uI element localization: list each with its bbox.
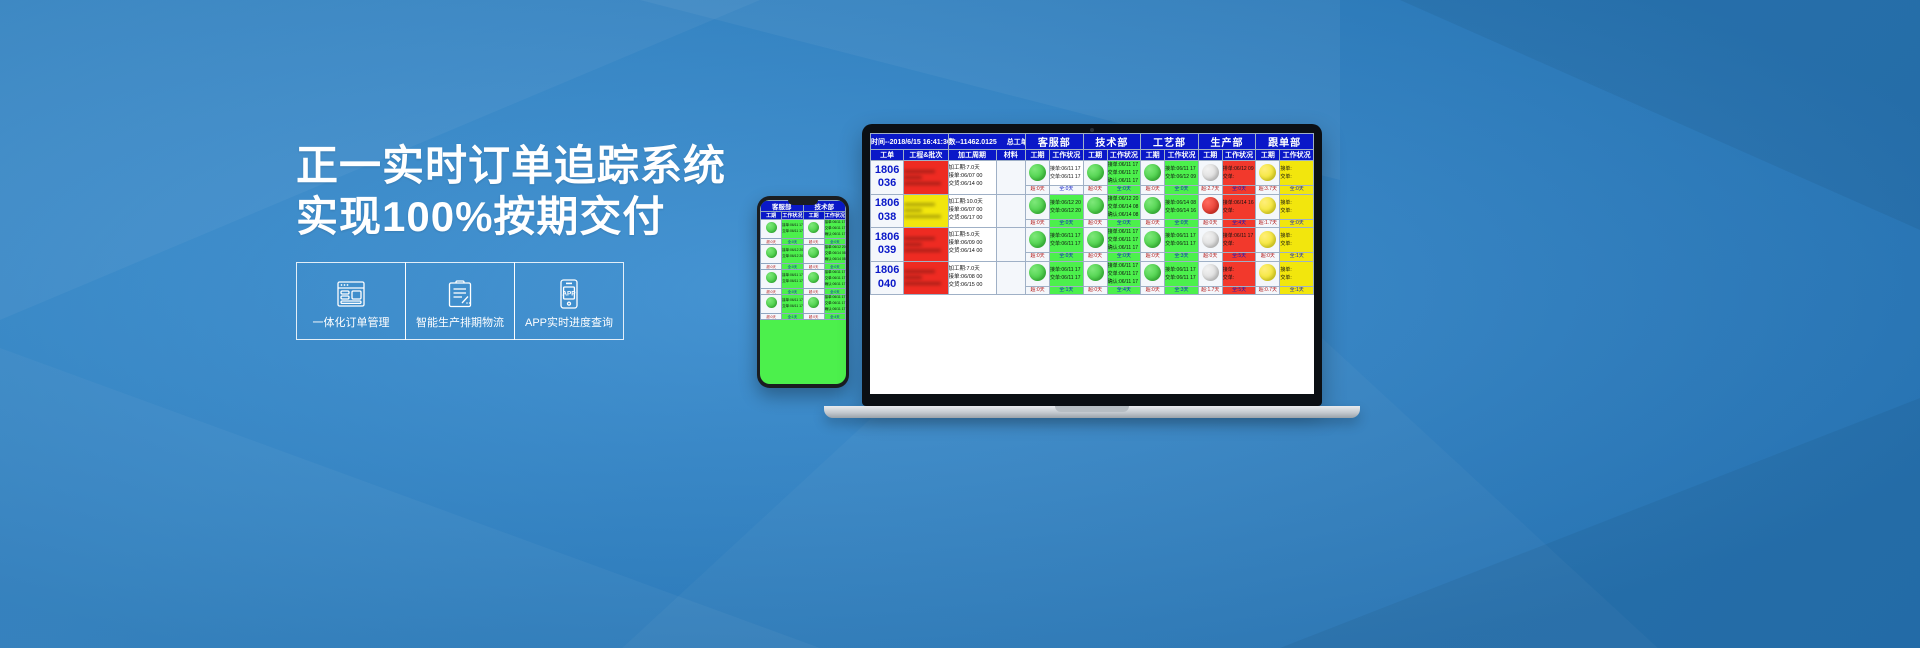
phone-table-row-sub: 超:0天全:1天超:0天全:4天 [761,314,846,320]
full-days-cell: 全:4天 [1222,219,1256,228]
phone-work-status-cell[interactable]: 接单:06/12 20交单:06/12 20 [782,245,803,264]
dept-header-customer-service: 客服部 [1026,134,1084,150]
phone-sub-header: 工期 [803,212,824,220]
work-status-line: 交单: [1223,207,1256,215]
clipboard-schedule-icon [447,275,473,313]
order-number-cell: 1806038 [871,194,904,228]
status-indicator-green [1144,197,1161,214]
phone-screen: 客服部 技术部 工期 工作状况 工期 工作状况 接单:06/11 17交单:06… [760,200,846,384]
cycle-line: 交货:06/14 00 [949,248,996,256]
cycle-line: 交货:06/14 00 [949,181,996,189]
table-row[interactable]: 1806039加工期:5.0天接单:06/09 00交货:06/14 00接单:… [871,228,1314,253]
col-header-status: 工作状况 [1165,150,1199,161]
cycle-line: 接单:06/07 00 [949,207,996,215]
phone-sub-header: 工作状况 [824,212,845,220]
phone-work-status-cell[interactable]: 接单:06/11 17交单:06/11 17 [782,270,803,289]
duration-status-cell[interactable] [1141,261,1165,286]
status-indicator-gray [1202,231,1219,248]
status-count: 数--11462.0125总工单数--38 [948,134,1026,150]
phone-work-line: 确认:06/11 17 [825,232,845,238]
work-status-line: 接单: [1280,199,1313,207]
phone-work-status-cell[interactable]: 接单:06/11 17交单:06/11 17确认:06/11 17 [824,270,845,289]
phone-full-days-cell: 全:4天 [824,314,845,320]
work-status-cell[interactable]: 接单:06/14 08交单:06/14 16 [1165,194,1199,219]
phone-duration-cell[interactable] [761,220,782,239]
work-status-cell[interactable]: 接单:交单: [1280,194,1314,219]
feature-list: 一体化订单管理 智能生产排期物流 [296,262,623,340]
webcam-icon [1090,128,1094,132]
status-indicator-green [1029,231,1046,248]
phone-work-line: 交单:06/11 17 [782,229,802,235]
status-indicator-gray [1202,264,1219,281]
full-days-cell: 全:0天 [1165,186,1199,195]
work-status-line: 确认:06/11 17 [1108,177,1141,185]
overdue-days-cell: 超:0天 [1141,219,1165,228]
full-days-cell: 全:0天 [1280,186,1314,195]
col-header-status: 工作状况 [1107,150,1141,161]
phone-work-line: 交单:06/11 17 [782,304,802,310]
work-status-cell[interactable]: 接单:06/11 17交单:06/11 17 [1050,261,1084,286]
overdue-days-cell: 超:0天 [1256,253,1280,262]
work-status-line: 交单: [1280,173,1313,181]
phone-work-status-cell[interactable]: 接单:06/11 17交单:06/11 17 [782,295,803,314]
overdue-days-cell: 超:1.7天 [1256,219,1280,228]
material-cell [996,228,1026,262]
laptop-screen: 时间--2018/6/15 16:41:36 数--11462.0125总工单数… [870,133,1314,394]
full-days-cell: 全:0天 [1107,219,1141,228]
order-number-top: 1806 [871,164,903,178]
status-bar-row: 时间--2018/6/15 16:41:36 数--11462.0125总工单数… [871,134,1314,150]
duration-status-cell[interactable] [1256,261,1280,286]
phone-duration-cell[interactable] [803,270,824,289]
overdue-days-cell: 超:0天 [1026,286,1050,295]
status-indicator-yellow [1259,264,1276,281]
overdue-days-cell: 超:0天 [1198,253,1222,262]
phone-duration-cell[interactable] [803,220,824,239]
project-batch-cell [904,261,948,295]
work-status-cell[interactable]: 接单:06/11 17交单:06/11 17 [1050,228,1084,253]
status-indicator-yellow [1259,231,1276,248]
order-number-top: 1806 [871,264,903,278]
duration-status-cell[interactable] [1198,228,1222,253]
project-batch-cell [904,194,948,228]
duration-status-cell[interactable] [1026,161,1050,186]
full-days-cell: 全:1天 [1280,286,1314,295]
material-cell [996,194,1026,228]
work-status-line: 排单:06/12 09 [1223,165,1256,173]
order-number-top: 1806 [871,197,903,211]
duration-status-cell[interactable] [1256,228,1280,253]
dept-header-production: 生产部 [1198,134,1256,150]
work-status-line: 接单:06/11 17 [1165,165,1198,173]
feature-label: 智能生产排期物流 [416,318,504,329]
col-header-duration: 工期 [1141,150,1165,161]
work-status-line: 接单:06/12 20 [1050,199,1083,207]
laptop-base-notch [1055,406,1129,412]
processing-cycle-cell: 加工期:10.0天接单:06/07 00交货:06/17 00 [948,194,996,228]
status-indicator-green [808,222,819,233]
phone-work-line: 确认:06/11 17 [825,282,845,288]
laptop-base [824,406,1360,418]
project-batch-cell [904,228,948,262]
dept-header-process: 工艺部 [1141,134,1199,150]
status-indicator-green [1144,164,1161,181]
work-status-cell[interactable]: 接单:06/11 17交单:06/11 17确认:06/11 17 [1107,261,1141,286]
phone-sub-header: 工期 [761,212,782,220]
duration-status-cell[interactable] [1026,194,1050,219]
work-status-line: 接单: [1280,266,1313,274]
overdue-days-cell: 超:0天 [1026,253,1050,262]
work-status-line: 交单:06/11 17 [1108,270,1141,278]
phone-work-line: 交单:06/12 20 [782,254,802,260]
order-number-cell: 1806036 [871,161,904,195]
order-number-top: 1806 [871,231,903,245]
col-header-status: 工作状况 [1280,150,1314,161]
overdue-days-cell: 超:0天 [1141,186,1165,195]
mobile-app-icon: APP [558,275,580,313]
work-status-line: 接单:06/11 17 [1050,165,1083,173]
duration-status-cell[interactable] [1083,228,1107,253]
work-status-line: 接单:06/11 17 [1050,266,1083,274]
status-indicator-green [766,247,777,258]
full-days-cell: 全:0天 [1050,253,1084,262]
cycle-line: 接单:06/08 00 [949,274,996,282]
col-header-status: 工作状况 [1050,150,1084,161]
phone-table-row[interactable]: 接单:06/11 17交单:06/11 17接单:06/11 17交单:06/1… [761,295,846,314]
status-indicator-green [1087,231,1104,248]
status-indicator-green [1144,231,1161,248]
overdue-days-cell: 超:0.7天 [1256,286,1280,295]
work-status-line: 接单:06/11 17 [1108,228,1141,236]
full-days-cell: 全:5天 [1222,286,1256,295]
project-text-blurred [904,270,947,285]
material-cell [996,261,1026,295]
work-status-cell[interactable]: 接单:06/11 17交单:06/11 17确认:06/11 17 [1107,228,1141,253]
status-indicator-green [1029,164,1046,181]
status-indicator-gray [1202,164,1219,181]
duration-status-cell[interactable] [1141,228,1165,253]
work-status-line: 交单: [1223,274,1256,282]
phone-duration-cell[interactable] [761,245,782,264]
order-number-cell: 1806040 [871,261,904,295]
full-days-cell: 全:0天 [1050,186,1084,195]
status-indicator-green [1144,264,1161,281]
work-status-line: 接单:06/11 17 [1165,266,1198,274]
work-status-line: 接单:06/12 20 [1108,195,1141,203]
dept-header-technical: 技术部 [1083,134,1141,150]
order-table-body: 1806036加工期:7.0天接单:06/07 00交货:06/14 00接单:… [871,161,1314,295]
processing-cycle-cell: 加工期:7.0天接单:06/08 00交货:06/15 00 [948,261,996,295]
overdue-days-cell: 超:0天 [1026,219,1050,228]
project-text-blurred [904,170,947,185]
duration-status-cell[interactable] [1198,194,1222,219]
phone-sub-header: 工作状况 [782,212,803,220]
phone-work-line: 确认:06/14 08 [825,257,845,263]
order-number-bottom: 039 [871,244,903,258]
duration-status-cell[interactable] [1198,261,1222,286]
col-header-cycle: 加工周期 [948,150,996,161]
overdue-days-cell: 超:0天 [1141,286,1165,295]
full-days-cell: 全:3天 [1165,286,1199,295]
order-number-bottom: 038 [871,211,903,225]
work-status-line: 接单:06/11 17 [1050,232,1083,240]
duration-status-cell[interactable] [1141,194,1165,219]
work-status-line: 接单:06/11 17 [1165,232,1198,240]
phone-table-row[interactable]: 接单:06/12 20交单:06/12 20接单:06/12 20交单:06/1… [761,245,846,264]
feature-card-production-schedule[interactable]: 智能生产排期物流 [405,262,515,340]
work-status-line: 交单: [1223,240,1256,248]
overdue-days-cell: 超:0天 [1083,186,1107,195]
full-days-cell: 全:0天 [1222,186,1256,195]
work-status-line: 交单: [1280,240,1313,248]
work-status-line: 交单:06/11 17 [1050,240,1083,248]
column-header-row: 工单 工程&批次 加工周期 材料 工期 工作状况 工期 工作状况 工期 工作状况… [871,150,1314,161]
status-indicator-green [1087,264,1104,281]
order-number-cell: 1806039 [871,228,904,262]
work-status-line: 接单:06/11 17 [1108,262,1141,270]
phone-full-days-cell: 全:1天 [782,314,803,320]
hero-copy: 正一实时订单追踪系统 实现100%按期交付 [296,140,716,242]
feature-card-order-management[interactable]: 一体化订单管理 [296,262,406,340]
status-indicator-green [1029,264,1046,281]
work-status-line: 交单:06/11 17 [1050,274,1083,282]
phone-table-row[interactable]: 接单:06/11 17交单:06/11 17接单:06/11 17交单:06/1… [761,220,846,239]
phone-duration-cell[interactable] [803,245,824,264]
feature-label: 一体化订单管理 [313,318,390,329]
phone-duration-cell[interactable] [761,270,782,289]
col-header-status: 工作状况 [1222,150,1256,161]
table-row[interactable]: 1806038加工期:10.0天接单:06/07 00交货:06/17 00接单… [871,194,1314,219]
work-status-line: 交单:06/11 17 [1108,169,1141,177]
work-status-cell[interactable]: 接单:06/11 17交单:06/11 17 [1050,161,1084,186]
status-time: 时间--2018/6/15 16:41:36 [871,134,949,150]
feature-card-app-progress[interactable]: APP APP实时进度查询 [514,262,624,340]
work-status-line: 接单:06/11 17 [1223,232,1256,240]
overdue-days-cell: 超:0天 [1141,253,1165,262]
work-status-cell[interactable]: 接单:06/11 17交单:06/11 17 [1165,261,1199,286]
page-title: 正一实时订单追踪系统 实现100%按期交付 [296,140,716,242]
full-days-cell: 全:0天 [1107,186,1141,195]
phone-duration-cell[interactable] [803,295,824,314]
project-text-blurred [904,203,947,218]
order-tracking-table: 时间--2018/6/15 16:41:36 数--11462.0125总工单数… [870,133,1314,295]
cycle-line: 加工期:7.0天 [949,266,996,274]
phone-overdue-cell: 超:0天 [761,314,782,320]
full-days-cell: 全:0天 [1280,219,1314,228]
work-status-line: 交单:06/14 08 [1108,203,1141,211]
status-indicator-green [808,297,819,308]
svg-text:APP: APP [562,291,576,298]
phone-sub-header-row: 工期 工作状况 工期 工作状况 [761,212,846,220]
overdue-days-cell: 超:0天 [1083,253,1107,262]
status-indicator-red [1202,197,1219,214]
full-days-cell: 全:1天 [1280,253,1314,262]
hero-banner: 正一实时订单追踪系统 实现100%按期交付 一体化订单管理 [0,0,1920,648]
work-status-line: 交单:06/11 17 [1108,236,1141,244]
col-header-duration: 工期 [1256,150,1280,161]
status-indicator-green [808,272,819,283]
work-status-line: 交单:06/12 09 [1165,173,1198,181]
phone-overdue-cell: 超:0天 [803,314,824,320]
phone-order-table: 客服部 技术部 工期 工作状况 工期 工作状况 接单:06/11 17交单:06… [760,200,846,320]
phone-work-status-cell[interactable]: 接单:06/11 17交单:06/11 17确认:06/11 17 [824,220,845,239]
duration-status-cell[interactable] [1026,261,1050,286]
overdue-days-cell: 超:0天 [1198,219,1222,228]
phone-notch [788,200,818,205]
full-days-cell: 全:0天 [1107,253,1141,262]
col-header-duration: 工期 [1198,150,1222,161]
work-status-line: 确认:06/11 17 [1108,278,1141,286]
work-status-cell[interactable]: 接单:交单: [1222,261,1256,286]
full-days-cell: 全:1天 [1050,286,1084,295]
phone-table-row[interactable]: 接单:06/11 17交单:06/11 17接单:06/11 17交单:06/1… [761,270,846,289]
processing-cycle-cell: 加工期:5.0天接单:06/09 00交货:06/14 00 [948,228,996,262]
duration-status-cell[interactable] [1198,161,1222,186]
status-indicator-yellow [1259,164,1276,181]
status-total-orders: 总工单数--38 [1007,139,1026,146]
work-status-line: 交单:06/11 17 [1050,173,1083,181]
duration-status-cell[interactable] [1083,194,1107,219]
status-indicator-green [766,222,777,233]
phone-work-status-cell[interactable]: 接单:06/11 17交单:06/11 17 [782,220,803,239]
col-header-material: 材料 [996,150,1026,161]
work-status-line: 交单: [1280,207,1313,215]
status-indicator-green [766,272,777,283]
overdue-days-cell: 超:3.7天 [1256,186,1280,195]
work-status-line: 接单:06/14 16 [1223,199,1256,207]
status-indicator-green [1029,197,1046,214]
status-indicator-green [1087,164,1104,181]
work-status-cell[interactable]: 接单:06/14 16交单: [1222,194,1256,219]
work-status-line: 确认:06/11 17 [1108,244,1141,252]
phone-work-line: 交单:06/11 17 [782,279,802,285]
order-number-bottom: 040 [871,278,903,292]
overdue-days-cell: 超:2.7天 [1198,186,1222,195]
cycle-line: 交货:06/15 00 [949,282,996,290]
duration-status-cell[interactable] [1083,261,1107,286]
headline-line-2: 实现100%按期交付 [296,191,716,242]
status-indicator-yellow [1259,197,1276,214]
work-status-line: 接单:06/11 17 [1108,161,1141,169]
phone-work-status-cell[interactable]: 接单:06/11 17交单:06/11 17确认:06/11 17 [824,295,845,314]
full-days-cell: 全:5天 [1222,253,1256,262]
work-status-cell[interactable]: 接单:交单: [1280,228,1314,253]
duration-status-cell[interactable] [1141,161,1165,186]
full-days-cell: 全:0天 [1050,219,1084,228]
work-status-line: 交单:06/14 16 [1165,207,1198,215]
work-status-cell[interactable]: 接单:06/12 20交单:06/12 20 [1050,194,1084,219]
phone-work-status-cell[interactable]: 接单:06/12 20交单:06/14 08确认:06/14 08 [824,245,845,264]
work-status-cell[interactable]: 接单:交单: [1280,161,1314,186]
duration-status-cell[interactable] [1083,161,1107,186]
work-status-line: 接单: [1280,165,1313,173]
work-status-line: 接单: [1280,232,1313,240]
processing-cycle-cell: 加工期:7.0天接单:06/07 00交货:06/14 00 [948,161,996,195]
overdue-days-cell: 超:0天 [1083,286,1107,295]
work-status-line: 接单:06/14 08 [1165,199,1198,207]
status-count-value: 数--11462.0125 [949,139,997,146]
overdue-days-cell: 超:0天 [1083,219,1107,228]
phone-work-line: 确认:06/11 17 [825,307,845,313]
table-row[interactable]: 1806036加工期:7.0天接单:06/07 00交货:06/14 00接单:… [871,161,1314,186]
duration-status-cell[interactable] [1026,228,1050,253]
work-status-cell[interactable]: 排单:06/12 09交单: [1222,161,1256,186]
overdue-days-cell: 超:1.7天 [1198,286,1222,295]
laptop-mockup: 时间--2018/6/15 16:41:36 数--11462.0125总工单数… [862,124,1322,418]
overdue-days-cell: 超:0天 [1026,186,1050,195]
duration-status-cell[interactable] [1256,194,1280,219]
material-cell [996,161,1026,195]
col-header-order: 工单 [871,150,904,161]
full-days-cell: 全:3天 [1165,253,1199,262]
work-status-cell[interactable]: 接单:06/12 20交单:06/14 08确认:06/14 08 [1107,194,1141,219]
col-header-duration: 工期 [1083,150,1107,161]
col-header-duration: 工期 [1026,150,1050,161]
phone-table-body: 接单:06/11 17交单:06/11 17接单:06/11 17交单:06/1… [761,220,846,320]
work-status-cell[interactable]: 接单:06/11 17交单: [1222,228,1256,253]
project-text-blurred [904,237,947,252]
work-status-line: 确认:06/14 08 [1108,211,1141,219]
dept-header-followup: 跟单部 [1256,134,1314,150]
headline-line-1: 正一实时订单追踪系统 [296,140,716,191]
work-status-cell[interactable]: 接单:06/11 17交单:06/12 09 [1165,161,1199,186]
col-header-project: 工程&批次 [904,150,948,161]
status-indicator-green [1087,197,1104,214]
work-status-line: 交单:06/11 17 [1165,240,1198,248]
work-status-cell[interactable]: 接单:06/11 17交单:06/11 17 [1165,228,1199,253]
feature-label: APP实时进度查询 [525,318,613,329]
duration-status-cell[interactable] [1256,161,1280,186]
work-status-line: 交单: [1223,173,1256,181]
table-row[interactable]: 1806040加工期:7.0天接单:06/08 00交货:06/15 00接单:… [871,261,1314,286]
laptop-lid: 时间--2018/6/15 16:41:36 数--11462.0125总工单数… [862,124,1322,406]
work-status-line: 交单:06/12 20 [1050,207,1083,215]
work-status-line: 交单: [1280,274,1313,282]
full-days-cell: 全:4天 [1107,286,1141,295]
phone-mockup: 客服部 技术部 工期 工作状况 工期 工作状况 接单:06/11 17交单:06… [757,196,849,388]
order-number-bottom: 036 [871,177,903,191]
status-indicator-green [808,247,819,258]
work-status-cell[interactable]: 接单:06/11 17交单:06/11 17确认:06/11 17 [1107,161,1141,186]
cycle-line: 交货:06/17 00 [949,215,996,223]
status-indicator-green [766,297,777,308]
project-batch-cell [904,161,948,195]
dashboard-layout-icon [336,275,366,313]
work-status-line: 接单: [1223,266,1256,274]
work-status-cell[interactable]: 接单:交单: [1280,261,1314,286]
phone-duration-cell[interactable] [761,295,782,314]
cycle-line: 加工期:10.0天 [949,199,996,207]
work-status-line: 交单:06/11 17 [1165,274,1198,282]
full-days-cell: 全:0天 [1165,219,1199,228]
